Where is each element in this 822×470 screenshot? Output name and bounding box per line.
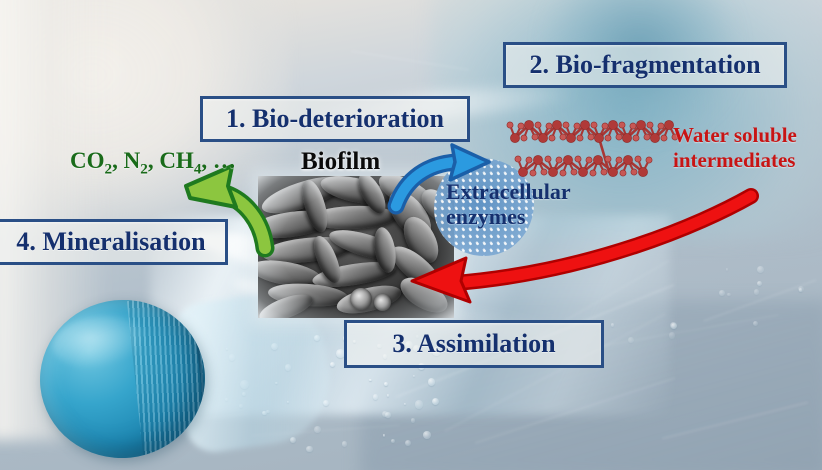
extracellular-enzymes-label: Extracellular enzymes bbox=[446, 180, 606, 229]
step-label-bio-fragmentation: 2. Bio-fragmentation bbox=[529, 50, 760, 80]
step-label-assimilation: 3. Assimilation bbox=[392, 329, 555, 359]
gases-text: CO2, N2, CH4, … bbox=[70, 148, 236, 173]
figure-canvas: CO2, N2, CH4, … Biofilm Extracellular en… bbox=[0, 0, 822, 470]
step-label-mineralisation: 4. Mineralisation bbox=[16, 227, 205, 257]
enzymes-line-2: enzymes bbox=[446, 205, 606, 230]
step-box-bio-fragmentation[interactable]: 2. Bio-fragmentation bbox=[503, 42, 787, 88]
intermediates-line-2: intermediates bbox=[673, 148, 822, 173]
step-label-bio-deterioration: 1. Bio-deterioration bbox=[226, 104, 444, 134]
water-soluble-intermediates-label: Water soluble intermediates bbox=[673, 123, 822, 173]
gases-label: CO2, N2, CH4, … bbox=[70, 148, 236, 179]
step-box-assimilation[interactable]: 3. Assimilation bbox=[344, 320, 604, 368]
enzymes-line-1: Extracellular bbox=[446, 180, 606, 205]
polymer-molecule-diagram bbox=[505, 92, 695, 187]
step-box-mineralisation[interactable]: 4. Mineralisation bbox=[0, 219, 228, 265]
molecule-svg bbox=[505, 92, 695, 187]
biofilm-label: Biofilm bbox=[301, 148, 380, 176]
biofilm-sem-image bbox=[258, 176, 454, 318]
intermediates-line-1: Water soluble bbox=[673, 123, 822, 148]
step-box-bio-deterioration[interactable]: 1. Bio-deterioration bbox=[200, 96, 470, 142]
